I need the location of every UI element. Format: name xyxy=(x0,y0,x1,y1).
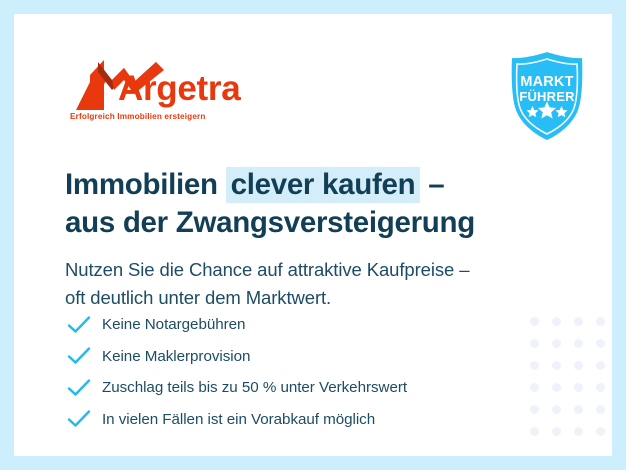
badge-line-2: FÜHRER xyxy=(504,89,590,104)
benefits-list: Keine Notargebühren Keine Maklerprovisio… xyxy=(67,310,507,436)
decoration-dot xyxy=(530,339,539,348)
market-leader-badge: MARKT FÜHRER xyxy=(504,50,590,142)
decoration-dot xyxy=(530,317,539,326)
list-item-label: Keine Notargebühren xyxy=(102,316,245,333)
check-icon xyxy=(67,315,91,335)
decoration-dot xyxy=(552,427,561,436)
decoration-dot xyxy=(530,405,539,414)
decoration-dot xyxy=(574,317,583,326)
logo-wordmark: Argetra xyxy=(118,71,240,106)
logo-tagline: Erfolgreich Immobilien ersteigern xyxy=(70,112,206,121)
decoration-dot xyxy=(574,383,583,392)
decoration-dot xyxy=(596,361,605,370)
decoration-dot xyxy=(574,339,583,348)
headline-text-after: – xyxy=(420,168,444,201)
list-item-label: Zuschlag teils bis zu 50 % unter Verkehr… xyxy=(102,379,407,396)
badge-line-1: MARKT xyxy=(504,74,590,90)
decoration-dot xyxy=(596,383,605,392)
decoration-dot xyxy=(596,339,605,348)
list-item: Keine Notargebühren xyxy=(67,310,507,339)
list-item: In vielen Fällen ist ein Vorabkauf mögli… xyxy=(67,405,507,434)
decoration-dot xyxy=(596,317,605,326)
subheadline: Nutzen Sie die Chance auf attraktive Kau… xyxy=(65,256,545,312)
check-icon xyxy=(67,346,91,366)
decoration-dot xyxy=(574,405,583,414)
decoration-dot xyxy=(530,427,539,436)
promo-banner: Argetra Erfolgreich Immobilien ersteiger… xyxy=(0,0,626,470)
headline-text-before: Immobilien xyxy=(65,168,226,201)
check-icon xyxy=(67,378,91,398)
argetra-logo[interactable]: Argetra Erfolgreich Immobilien ersteiger… xyxy=(68,58,268,122)
decoration-dot xyxy=(552,317,561,326)
decoration-dot xyxy=(574,361,583,370)
list-item-label: Keine Maklerprovision xyxy=(102,348,250,365)
decoration-dot xyxy=(552,405,561,414)
page-title: Immobilien clever kaufen – aus der Zwang… xyxy=(65,166,535,242)
list-item: Zuschlag teils bis zu 50 % unter Verkehr… xyxy=(67,373,507,402)
list-item: Keine Maklerprovision xyxy=(67,342,507,371)
headline-highlight: clever kaufen xyxy=(226,167,421,203)
decoration-dot xyxy=(574,427,583,436)
subheadline-line-2: oft deutlich unter dem Marktwert. xyxy=(65,284,545,312)
decoration-dot xyxy=(552,339,561,348)
decoration-dot xyxy=(552,383,561,392)
decoration-dot xyxy=(530,361,539,370)
banner-card: Argetra Erfolgreich Immobilien ersteiger… xyxy=(14,14,612,456)
decoration-dot xyxy=(596,405,605,414)
headline-line-1: Immobilien clever kaufen – xyxy=(65,166,535,204)
headline-line-2: aus der Zwangsversteigerung xyxy=(65,204,535,242)
dot-grid-decoration xyxy=(523,310,612,440)
check-icon xyxy=(67,409,91,429)
list-item-label: In vielen Fällen ist ein Vorabkauf mögli… xyxy=(102,411,375,428)
decoration-dot xyxy=(596,427,605,436)
subheadline-line-1: Nutzen Sie die Chance auf attraktive Kau… xyxy=(65,256,545,284)
decoration-dot xyxy=(530,383,539,392)
decoration-dot xyxy=(552,361,561,370)
